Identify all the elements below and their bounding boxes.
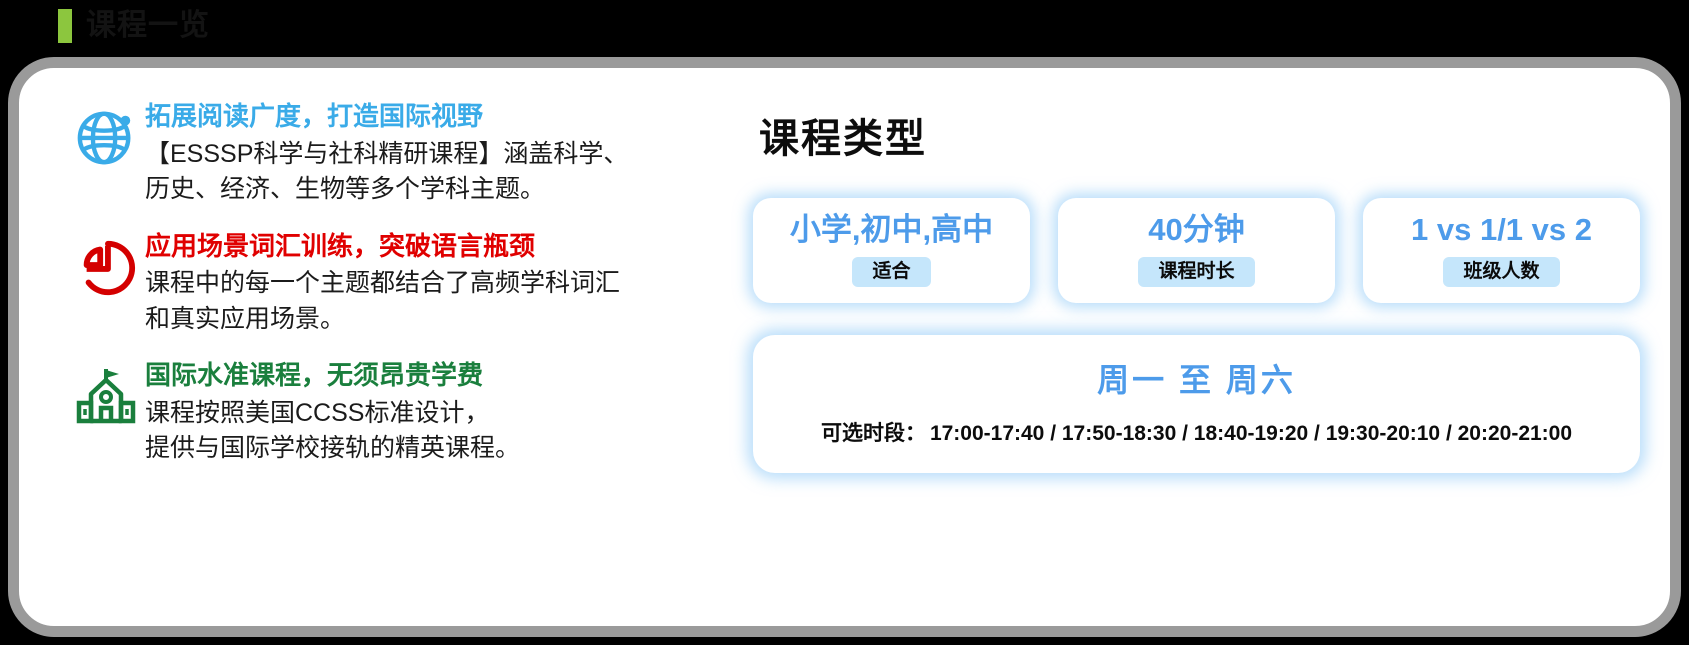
schedule-time-slots: 可选时段：17:00-17:40 / 17:50-18:30 / 18:40-1… (773, 417, 1620, 447)
feature-text-block: 国际水准课程，无须昂贵学费 课程按照美国CCSS标准设计， 提供与国际学校接轨的… (145, 359, 719, 467)
feature-line: 【ESSSP科学与社科精研课程】涵盖科学、 (145, 137, 719, 173)
feature-line: 和真实应用场景。 (145, 302, 719, 338)
schedule-days: 周一 至 周六 (773, 355, 1620, 401)
feature-line: 历史、经济、生物等多个学科主题。 (145, 172, 719, 208)
card-badge: 适合 (852, 257, 930, 288)
feature-description: 【ESSSP科学与社科精研课程】涵盖科学、 历史、经济、生物等多个学科主题。 (145, 137, 719, 208)
schedule-slots-label: 可选时段： (821, 422, 926, 445)
features-column: 拓展阅读广度，打造国际视野 【ESSSP科学与社科精研课程】涵盖科学、 历史、经… (19, 68, 719, 626)
feature-text-block: 应用场景词汇训练，突破语言瓶颈 课程中的每一个主题都结合了高频学科词汇 和真实应… (145, 230, 719, 338)
feature-title: 应用场景词汇训练，突破语言瓶颈 (145, 230, 719, 263)
card-value: 1 vs 1/1 vs 2 (1411, 214, 1592, 245)
card-badge: 班级人数 (1443, 257, 1559, 288)
card-value: 小学,初中,高中 (790, 214, 993, 245)
main-content-card: 拓展阅读广度，打造国际视野 【ESSSP科学与社科精研课程】涵盖科学、 历史、经… (8, 57, 1681, 637)
globe-icon (67, 100, 145, 168)
header-accent-bar (58, 9, 72, 43)
feature-item-reading-breadth: 拓展阅读广度，打造国际视野 【ESSSP科学与社科精研课程】涵盖科学、 历史、经… (67, 100, 719, 208)
schedule-card[interactable]: 周一 至 周六 可选时段：17:00-17:40 / 17:50-18:30 /… (753, 335, 1640, 473)
feature-description: 课程按照美国CCSS标准设计， 提供与国际学校接轨的精英课程。 (145, 396, 719, 467)
course-type-card-row: 小学,初中,高中 适合 40分钟 课程时长 1 vs 1/1 vs 2 班级人数 (753, 198, 1640, 303)
feature-item-international-standard: 国际水准课程，无须昂贵学费 课程按照美国CCSS标准设计， 提供与国际学校接轨的… (67, 359, 719, 467)
course-type-column: 课程类型 小学,初中,高中 适合 40分钟 课程时长 1 vs 1/1 vs 2… (719, 68, 1670, 626)
feature-title: 拓展阅读广度，打造国际视野 (145, 100, 719, 133)
course-type-title: 课程类型 (759, 106, 1640, 164)
pie-chart-icon (67, 230, 145, 298)
card-badge: 课程时长 (1138, 257, 1254, 288)
feature-text-block: 拓展阅读广度，打造国际视野 【ESSSP科学与社科精研课程】涵盖科学、 历史、经… (145, 100, 719, 208)
feature-title: 国际水准课程，无须昂贵学费 (145, 359, 719, 392)
feature-description: 课程中的每一个主题都结合了高频学科词汇 和真实应用场景。 (145, 266, 719, 337)
course-type-card-audience[interactable]: 小学,初中,高中 适合 (753, 198, 1030, 303)
school-icon (67, 359, 145, 429)
card-value: 40分钟 (1148, 214, 1244, 245)
feature-line: 提供与国际学校接轨的精英课程。 (145, 431, 719, 467)
feature-line: 课程中的每一个主题都结合了高频学科词汇 (145, 266, 719, 302)
course-type-card-duration[interactable]: 40分钟 课程时长 (1058, 198, 1335, 303)
page-title: 课程一览 (86, 11, 210, 41)
course-type-card-class-size[interactable]: 1 vs 1/1 vs 2 班级人数 (1363, 198, 1640, 303)
feature-line: 课程按照美国CCSS标准设计， (145, 396, 719, 432)
schedule-slots-value: 17:00-17:40 / 17:50-18:30 / 18:40-19:20 … (930, 422, 1572, 445)
page-header: 课程一览 (0, 0, 1689, 52)
feature-item-vocabulary-training: 应用场景词汇训练，突破语言瓶颈 课程中的每一个主题都结合了高频学科词汇 和真实应… (67, 230, 719, 338)
